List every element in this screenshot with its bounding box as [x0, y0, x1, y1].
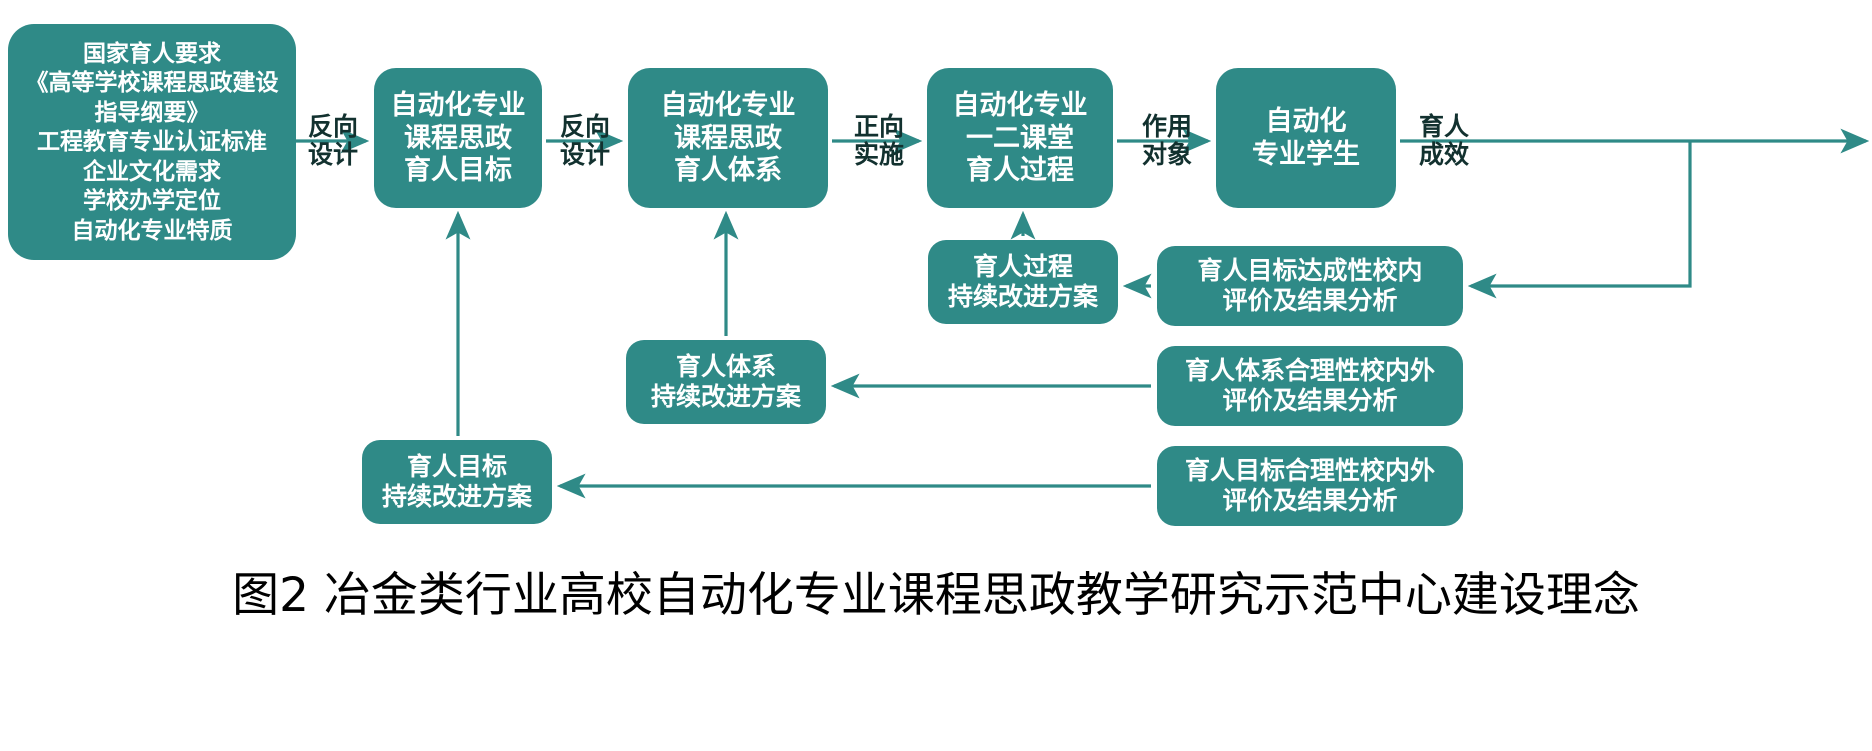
edge-label-acting-object: 作用 对象: [1122, 110, 1212, 172]
edge-label-reverse-design-1: 反向 设计: [296, 110, 370, 172]
node-eval-goal-attainment: 育人目标达成性校内 评价及结果分析: [1157, 246, 1463, 326]
arrow-outcome-feedback: [1471, 141, 1690, 286]
node-education-process: 自动化专业 一二课堂 育人过程: [927, 68, 1113, 208]
node-improve-system: 育人体系 持续改进方案: [626, 340, 826, 424]
node-source-requirements: 国家育人要求 《高等学校课程思政建设 指导纲要》 工程教育专业认证标准 企业文化…: [8, 24, 296, 260]
node-improve-goal: 育人目标 持续改进方案: [362, 440, 552, 524]
edge-label-reverse-design-2: 反向 设计: [546, 110, 624, 172]
node-eval-system-rationality: 育人体系合理性校内外 评价及结果分析: [1157, 346, 1463, 426]
node-students: 自动化 专业学生: [1216, 68, 1396, 208]
node-education-system: 自动化专业 课程思政 育人体系: [628, 68, 828, 208]
figure-caption: 图2 冶金类行业高校自动化专业课程思政教学研究示范中心建设理念: [0, 556, 1872, 625]
edge-label-forward-implement: 正向 实施: [834, 110, 924, 172]
node-eval-goal-rationality: 育人目标合理性校内外 评价及结果分析: [1157, 446, 1463, 526]
node-improve-process: 育人过程 持续改进方案: [928, 240, 1118, 324]
edge-label-outcome: 育人 成效: [1404, 110, 1484, 172]
node-education-goal: 自动化专业 课程思政 育人目标: [374, 68, 542, 208]
figure-canvas: 国家育人要求 《高等学校课程思政建设 指导纲要》 工程教育专业认证标准 企业文化…: [0, 0, 1872, 751]
